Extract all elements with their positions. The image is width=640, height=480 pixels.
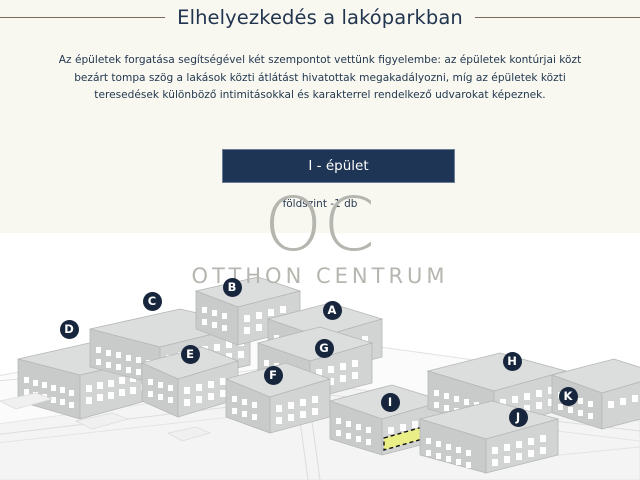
map-marker-k[interactable]: K: [559, 387, 578, 406]
building-selector-button[interactable]: I - épület: [222, 149, 455, 183]
map-marker-h[interactable]: H: [503, 352, 522, 371]
floor-count-label: földszint -1 db: [0, 198, 640, 210]
header-section: Elhelyezkedés a lakóparkban Az épületek …: [0, 0, 640, 233]
map-marker-i[interactable]: I: [381, 393, 400, 412]
page-root: Elhelyezkedés a lakóparkban Az épületek …: [0, 0, 640, 480]
map-marker-f[interactable]: F: [264, 366, 283, 385]
page-title: Elhelyezkedés a lakóparkban: [177, 6, 463, 29]
page-title-row: Elhelyezkedés a lakóparkban: [0, 2, 640, 32]
map-marker-j[interactable]: J: [509, 408, 528, 427]
map-marker-g[interactable]: G: [315, 339, 334, 358]
intro-paragraph: Az épületek forgatása segítségével két s…: [56, 52, 584, 105]
map-marker-a[interactable]: A: [323, 301, 342, 320]
title-rule-right: [475, 17, 640, 18]
map-marker-e[interactable]: E: [181, 345, 200, 364]
map-marker-d[interactable]: D: [60, 320, 79, 339]
map-marker-b[interactable]: B: [223, 278, 242, 297]
title-rule-left: [0, 17, 165, 18]
map-marker-c[interactable]: C: [143, 292, 162, 311]
